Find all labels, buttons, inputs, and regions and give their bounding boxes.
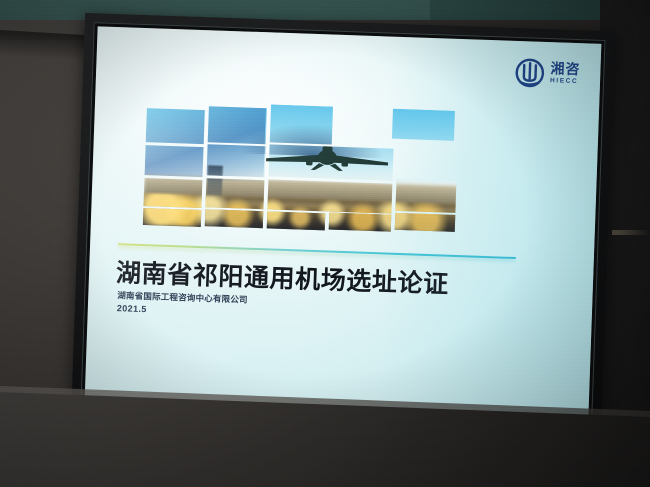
airplane-mosaic-photo [143,100,461,236]
right-wall-highlight [612,230,650,235]
mosaic-tile [267,211,326,230]
mosaic-tile [146,108,205,144]
logo-english-text: HIECC [550,78,580,86]
logo-text-block: 湘咨 HIECC [550,62,581,86]
mosaic-tile [392,109,455,141]
mosaic-tile [269,144,394,180]
mosaic-tile [395,213,456,232]
mosaic-tile [207,144,266,177]
mosaic-tile [270,104,333,144]
mosaic-tile [395,179,456,213]
hiecc-emblem-icon [514,57,546,89]
slide-date: 2021.5 [117,303,147,314]
company-logo: 湘咨 HIECC [514,57,581,90]
mosaic-tile [267,179,392,213]
mosaic-tile [205,209,264,228]
logo-chinese-text: 湘咨 [550,62,580,77]
presentation-slide[interactable]: 湘咨 HIECC [85,26,602,417]
mosaic-tile [145,145,204,177]
projection-screen[interactable]: 湘咨 HIECC [71,13,615,431]
room-photograph: 湘咨 HIECC [0,0,650,487]
mosaic-tile [329,213,392,232]
mosaic-tile [208,106,267,144]
mosaic-tile [205,178,264,209]
mosaic-tile [143,208,202,227]
mosaic-tile [143,178,202,208]
